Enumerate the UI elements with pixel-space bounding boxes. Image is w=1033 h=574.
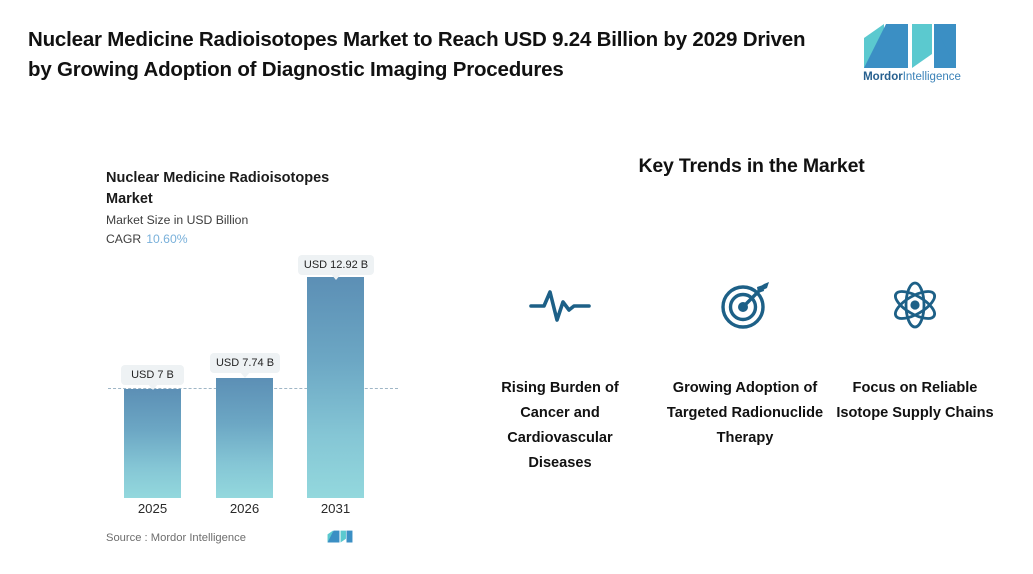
chart-plot-area: USD 7 B USD 7.74 B USD 12.92 B 2025 2026…	[0, 0, 470, 574]
x-axis-label-2026: 2026	[216, 501, 273, 516]
x-axis-label-2031: 2031	[307, 501, 364, 516]
key-trends-heading: Key Trends in the Market	[470, 155, 1033, 178]
chart-source: Source : Mordor Intelligence	[106, 532, 246, 544]
trend-label-3: Focus on Reliable Isotope Supply Chains	[830, 376, 1000, 426]
target-icon	[660, 270, 830, 340]
infographic-page: Nuclear Medicine Radioisotopes Market to…	[0, 0, 1033, 574]
source-logo-icon	[327, 528, 353, 544]
bar-value-label-2026: USD 7.74 B	[210, 353, 280, 373]
bar-2031	[307, 277, 364, 498]
trend-item-3: Focus on Reliable Isotope Supply Chains	[830, 270, 1000, 426]
bar-value-label-2025: USD 7 B	[121, 365, 184, 385]
trend-label-2: Growing Adoption of Targeted Radionuclid…	[660, 376, 830, 451]
trend-item-1: Rising Burden of Cancer and Cardiovascul…	[475, 270, 645, 476]
bar-2025	[124, 389, 181, 498]
x-axis-label-2025: 2025	[124, 501, 181, 516]
trend-item-2: Growing Adoption of Targeted Radionuclid…	[660, 270, 830, 451]
market-size-chart: Nuclear Medicine Radioisotopes Market Ma…	[0, 0, 470, 574]
atom-icon	[830, 270, 1000, 340]
pulse-icon	[475, 270, 645, 340]
bar-value-label-2031: USD 12.92 B	[298, 255, 374, 275]
trend-label-1: Rising Burden of Cancer and Cardiovascul…	[475, 376, 645, 476]
key-trends-panel: Key Trends in the Market Rising Burden o…	[470, 0, 1033, 574]
bar-2026	[216, 378, 273, 498]
